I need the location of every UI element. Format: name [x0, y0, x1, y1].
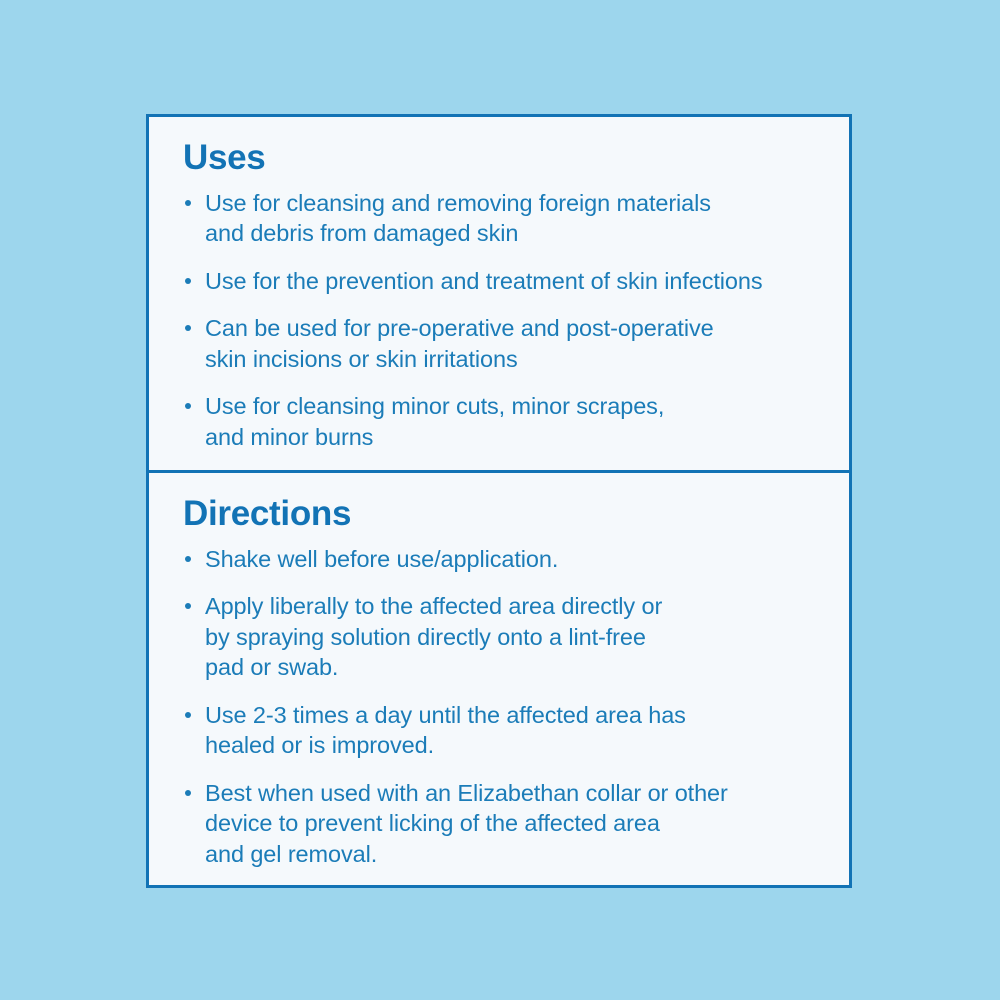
- bullet-dot-icon: [185, 403, 191, 409]
- product-info-card: Uses Use for cleansing and removing fore…: [146, 114, 852, 888]
- bullet-dot-icon: [185, 712, 191, 718]
- bullet-dot-icon: [185, 325, 191, 331]
- section-heading-directions: Directions: [183, 495, 819, 534]
- section-uses: Uses Use for cleansing and removing fore…: [149, 117, 849, 473]
- list-item-text: Can be used for pre-operative and post-o…: [205, 313, 819, 374]
- bullet-dot-icon: [185, 556, 191, 562]
- bullet-dot-icon: [185, 278, 191, 284]
- list-item: Use for the prevention and treatment of …: [183, 266, 819, 297]
- section-heading-uses: Uses: [183, 139, 819, 178]
- bullet-dot-icon: [185, 790, 191, 796]
- list-item: Shake well before use/application.: [183, 544, 819, 575]
- list-item-text: Use for cleansing and removing foreign m…: [205, 188, 819, 249]
- bullet-list-directions: Shake well before use/application. Apply…: [183, 544, 819, 870]
- page-root: Uses Use for cleansing and removing fore…: [0, 0, 1000, 1000]
- section-directions: Directions Shake well before use/applica…: [149, 473, 849, 891]
- list-item-text: Use 2-3 times a day until the affected a…: [205, 700, 819, 761]
- list-item-text: Use for the prevention and treatment of …: [205, 266, 819, 297]
- bullet-dot-icon: [185, 603, 191, 609]
- list-item-text: Best when used with an Elizabethan colla…: [205, 778, 819, 870]
- list-item: Apply liberally to the affected area dir…: [183, 591, 819, 683]
- list-item: Use for cleansing and removing foreign m…: [183, 188, 819, 249]
- list-item-text: Use for cleansing minor cuts, minor scra…: [205, 391, 819, 452]
- list-item: Best when used with an Elizabethan colla…: [183, 778, 819, 870]
- list-item: Use for cleansing minor cuts, minor scra…: [183, 391, 819, 452]
- list-item-text: Shake well before use/application.: [205, 544, 819, 575]
- list-item-text: Apply liberally to the affected area dir…: [205, 591, 819, 683]
- bullet-dot-icon: [185, 200, 191, 206]
- list-item: Use 2-3 times a day until the affected a…: [183, 700, 819, 761]
- bullet-list-uses: Use for cleansing and removing foreign m…: [183, 188, 819, 453]
- list-item: Can be used for pre-operative and post-o…: [183, 313, 819, 374]
